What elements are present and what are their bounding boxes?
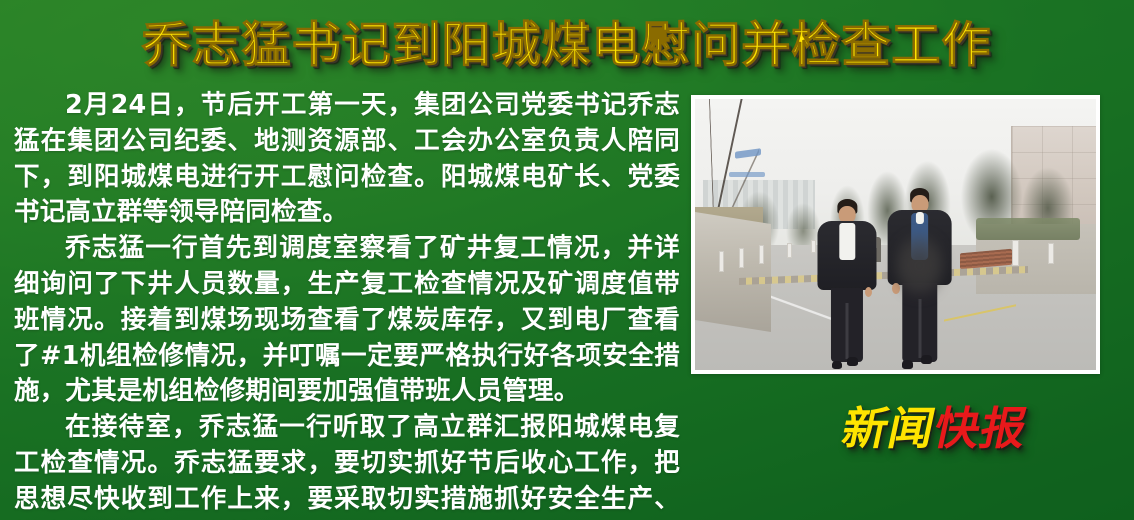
title-banner: 乔志猛书记到阳城煤电慰问并检查工作	[0, 14, 1134, 76]
photo-person-shoe	[902, 360, 914, 369]
article-paragraph: 在接待室，乔志猛一行听取了高立群汇报阳城煤电复工检查情况。乔志猛要求，要切实抓好…	[14, 410, 680, 520]
photo-person-shirt	[840, 223, 855, 260]
photo-bollard	[1012, 240, 1019, 266]
photo-frame	[691, 95, 1100, 374]
photo-bollard	[1048, 243, 1054, 264]
article-paragraph: 2月24日，节后开工第一天，集团公司党委书记乔志猛在集团公司纪委、地测资源部、工…	[14, 88, 680, 231]
photo-blur-artifact	[896, 235, 942, 296]
photo-right-hedge	[976, 218, 1080, 240]
photo-person-shoe	[832, 361, 842, 369]
photo-person-shirt	[915, 212, 923, 225]
news-flash-part-two: 快报	[929, 402, 1032, 455]
photo-person-shoe	[921, 355, 932, 364]
photo-bollard	[719, 251, 724, 272]
page-title: 乔志猛书记到阳城煤电慰问并检查工作	[142, 21, 992, 69]
photo-blue-sign-secondary	[729, 172, 765, 177]
article-paragraph: 乔志猛一行首先到调度室察看了矿井复工情况，并详细询问了下井人员数量，生产复工检查…	[14, 231, 680, 410]
article-body: 2月24日，节后开工第一天，集团公司党委书记乔志猛在集团公司纪委、地测资源部、工…	[14, 88, 680, 520]
photo-person-leg-gap	[918, 299, 921, 358]
photo-bollard	[759, 245, 764, 263]
photo-bollard	[739, 248, 744, 268]
photo-person-hand	[892, 283, 899, 294]
news-poster: 乔志猛书记到阳城煤电慰问并检查工作 2月24日，节后开工第一天，集团公司党委书记…	[0, 0, 1134, 520]
news-photo	[695, 99, 1096, 370]
photo-person-hand	[865, 287, 872, 297]
photo-person-leg-gap	[846, 303, 849, 358]
news-flash-part-one: 新闻	[837, 402, 940, 455]
photo-left-kerb	[695, 212, 771, 332]
photo-person-shoe	[847, 357, 857, 365]
photo-person-right	[885, 188, 953, 367]
photo-road-yellow-line	[944, 256, 1016, 370]
photo-bollard	[787, 243, 792, 259]
news-flash-stamp: 新闻快报	[838, 406, 1032, 451]
photo-person-left	[815, 199, 879, 367]
